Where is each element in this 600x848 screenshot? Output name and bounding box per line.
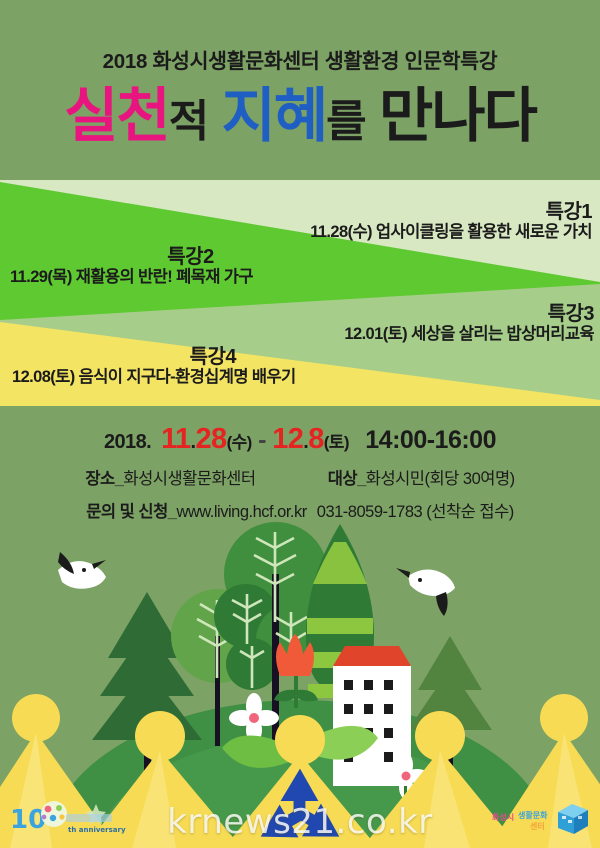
title-part-jihye: 지혜 — [222, 83, 327, 149]
lecture-entry-4: 특강4 12.08(토) 음식이 지구다-환경십계명 배우기 — [12, 346, 296, 387]
date-end-day: 8 — [308, 423, 324, 455]
contact-label: 문의 및 신청_ — [86, 503, 176, 521]
title-part-mannada: 만나다 — [379, 83, 536, 149]
contact-phone[interactable]: 031-8059-1783 — [317, 503, 422, 521]
logo-right-name-1: 화성시 — [492, 812, 514, 822]
date-end-month: 12 — [272, 423, 303, 455]
lecture-entry-1: 특강1 11.28(수) 업사이클링을 활용한 새로운 가치 — [310, 201, 592, 242]
date-range-dash: - — [258, 426, 266, 454]
event-info: 2018.11.28(수) - 12.8(토) 14:00-16:00 장소_화… — [0, 424, 600, 522]
date-start-month: 11 — [161, 423, 190, 455]
lecture-title-4: 특강4 — [12, 346, 296, 368]
bird-icon-left — [58, 552, 106, 589]
logo-10th-anniversary: 10 th anniversary — [8, 798, 126, 842]
logo-right-name-2: 생활문화 — [518, 810, 548, 820]
logo-living-culture-center: 화성시 생활문화 센터 — [490, 800, 594, 840]
logo-right-name-3: 센터 — [530, 821, 545, 831]
lecture-entry-3: 특강3 12.01(토) 세상을 살리는 밥상머리교육 — [344, 303, 594, 344]
title-part-jeok: 적 — [169, 97, 207, 146]
venue-audience-row: 장소_화성시생활문화센터 대상_화성시민(회당 30여명) — [0, 465, 600, 489]
audience-value: 화성시민(회당 30여명) — [366, 470, 515, 488]
logo-left-svg: 10 th anniversary — [8, 798, 126, 842]
event-dateline: 2018.11.28(수) - 12.8(토) 14:00-16:00 — [0, 424, 600, 456]
contact-url[interactable]: www.living.hcf.or.kr — [176, 503, 306, 521]
audience-label: 대상_ — [328, 470, 366, 488]
date-year: 2018. — [104, 431, 151, 453]
flower-tulip-icon — [274, 634, 318, 708]
date-start-day: 28 — [196, 423, 227, 455]
date-start-dow: (수) — [227, 433, 252, 452]
title-part-reul: 를 — [326, 97, 364, 146]
lecture-entry-2: 특강2 11.29(목) 재활용의 반란! 폐목재 가구 — [10, 246, 253, 287]
contact-note: (선착순 접수) — [426, 503, 513, 521]
venue-label: 장소_ — [85, 470, 123, 488]
page-title: 실천적 지혜를 만나다 — [0, 87, 600, 146]
logo-right-svg: 화성시 생활문화 센터 — [490, 800, 594, 840]
date-end-dow: (토) — [324, 433, 349, 452]
lecture-desc-3: 12.01(토) 세상을 살리는 밥상머리교육 — [344, 325, 594, 343]
poster-kicker: 2018 화성시생활문화센터 생활환경 인문학특강 — [0, 52, 600, 73]
contact-row: 문의 및 신청_www.living.hcf.or.kr031-8059-178… — [0, 498, 600, 522]
poster-header: 2018 화성시생활문화센터 생활환경 인문학특강 실천적 지혜를 만나다 — [0, 0, 600, 180]
logo-left-number: 10 — [10, 805, 46, 835]
logo-left-sub: th anniversary — [68, 826, 126, 834]
lecture-desc-2: 11.29(목) 재활용의 반란! 폐목재 가구 — [10, 268, 253, 286]
venue-value: 화성시생활문화센터 — [123, 470, 255, 488]
lecture-title-3: 특강3 — [344, 303, 594, 325]
title-part-silcheon: 실천 — [64, 83, 169, 149]
lecture-title-2: 특강2 — [10, 246, 253, 268]
event-time: 14:00-16:00 — [365, 426, 496, 454]
lecture-desc-4: 12.08(토) 음식이 지구다-환경십계명 배우기 — [12, 368, 296, 386]
poster-canvas: 2018 화성시생활문화센터 생활환경 인문학특강 실천적 지혜를 만나다 특강… — [0, 0, 600, 848]
bird-icon-right — [396, 568, 455, 616]
lecture-bands: 특강1 11.28(수) 업사이클링을 활용한 새로운 가치 특강2 11.29… — [0, 178, 600, 406]
lecture-title-1: 특강1 — [310, 201, 592, 223]
lecture-desc-1: 11.28(수) 업사이클링을 활용한 새로운 가치 — [310, 223, 592, 241]
